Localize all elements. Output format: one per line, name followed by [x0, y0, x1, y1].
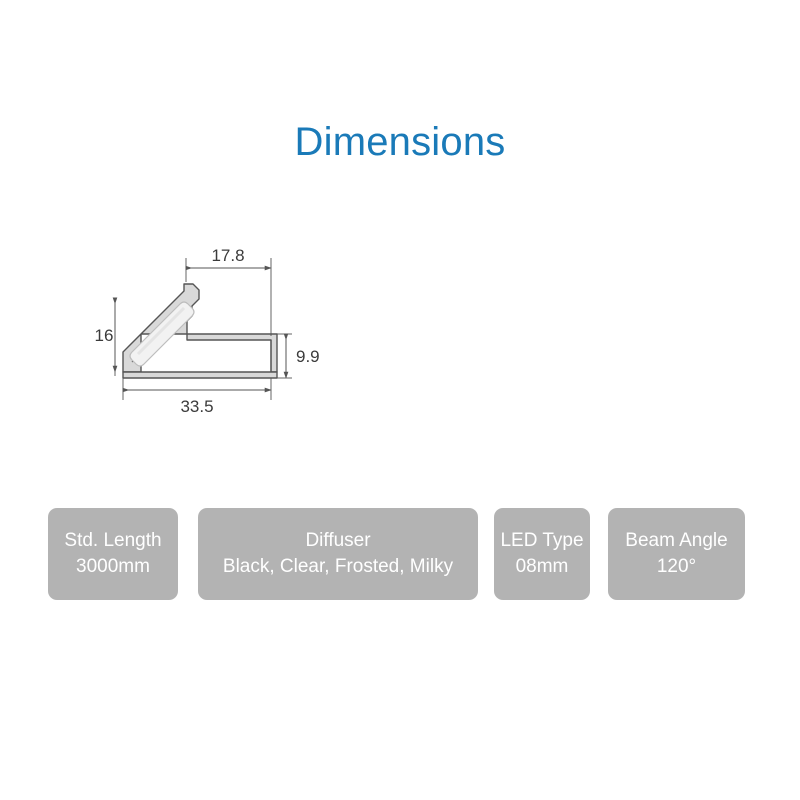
spec-value: Black, Clear, Frosted, Milky: [223, 554, 453, 580]
spec-box-led-type: LED Type 08mm: [494, 508, 590, 600]
spec-row: Std. Length 3000mm Diffuser Black, Clear…: [0, 508, 800, 600]
page-title: Dimensions: [0, 118, 800, 166]
spec-value: 120°: [657, 554, 696, 580]
spec-title: Diffuser: [305, 528, 370, 554]
dimension-drawing: 17.8 16 9.9 33.5: [60, 240, 380, 420]
spec-title: LED Type: [500, 528, 583, 554]
profile-body: [123, 284, 277, 378]
dim-label-height-right: 9.9: [296, 347, 320, 366]
spec-box-beam-angle: Beam Angle 120°: [608, 508, 745, 600]
dim-label-width-top: 17.8: [211, 246, 244, 265]
spec-value: 3000mm: [76, 554, 150, 580]
spec-box-std-length: Std. Length 3000mm: [48, 508, 178, 600]
base-flange: [123, 372, 277, 378]
spec-box-diffuser: Diffuser Black, Clear, Frosted, Milky: [198, 508, 478, 600]
dim-label-width-bottom: 33.5: [180, 397, 213, 416]
spec-title: Std. Length: [64, 528, 161, 554]
dim-label-height-left: 16: [95, 326, 114, 345]
spec-value: 08mm: [516, 554, 569, 580]
profile-cross-section-svg: 17.8 16 9.9 33.5: [60, 240, 380, 420]
spec-title: Beam Angle: [625, 528, 727, 554]
extension-lines: [115, 258, 292, 400]
